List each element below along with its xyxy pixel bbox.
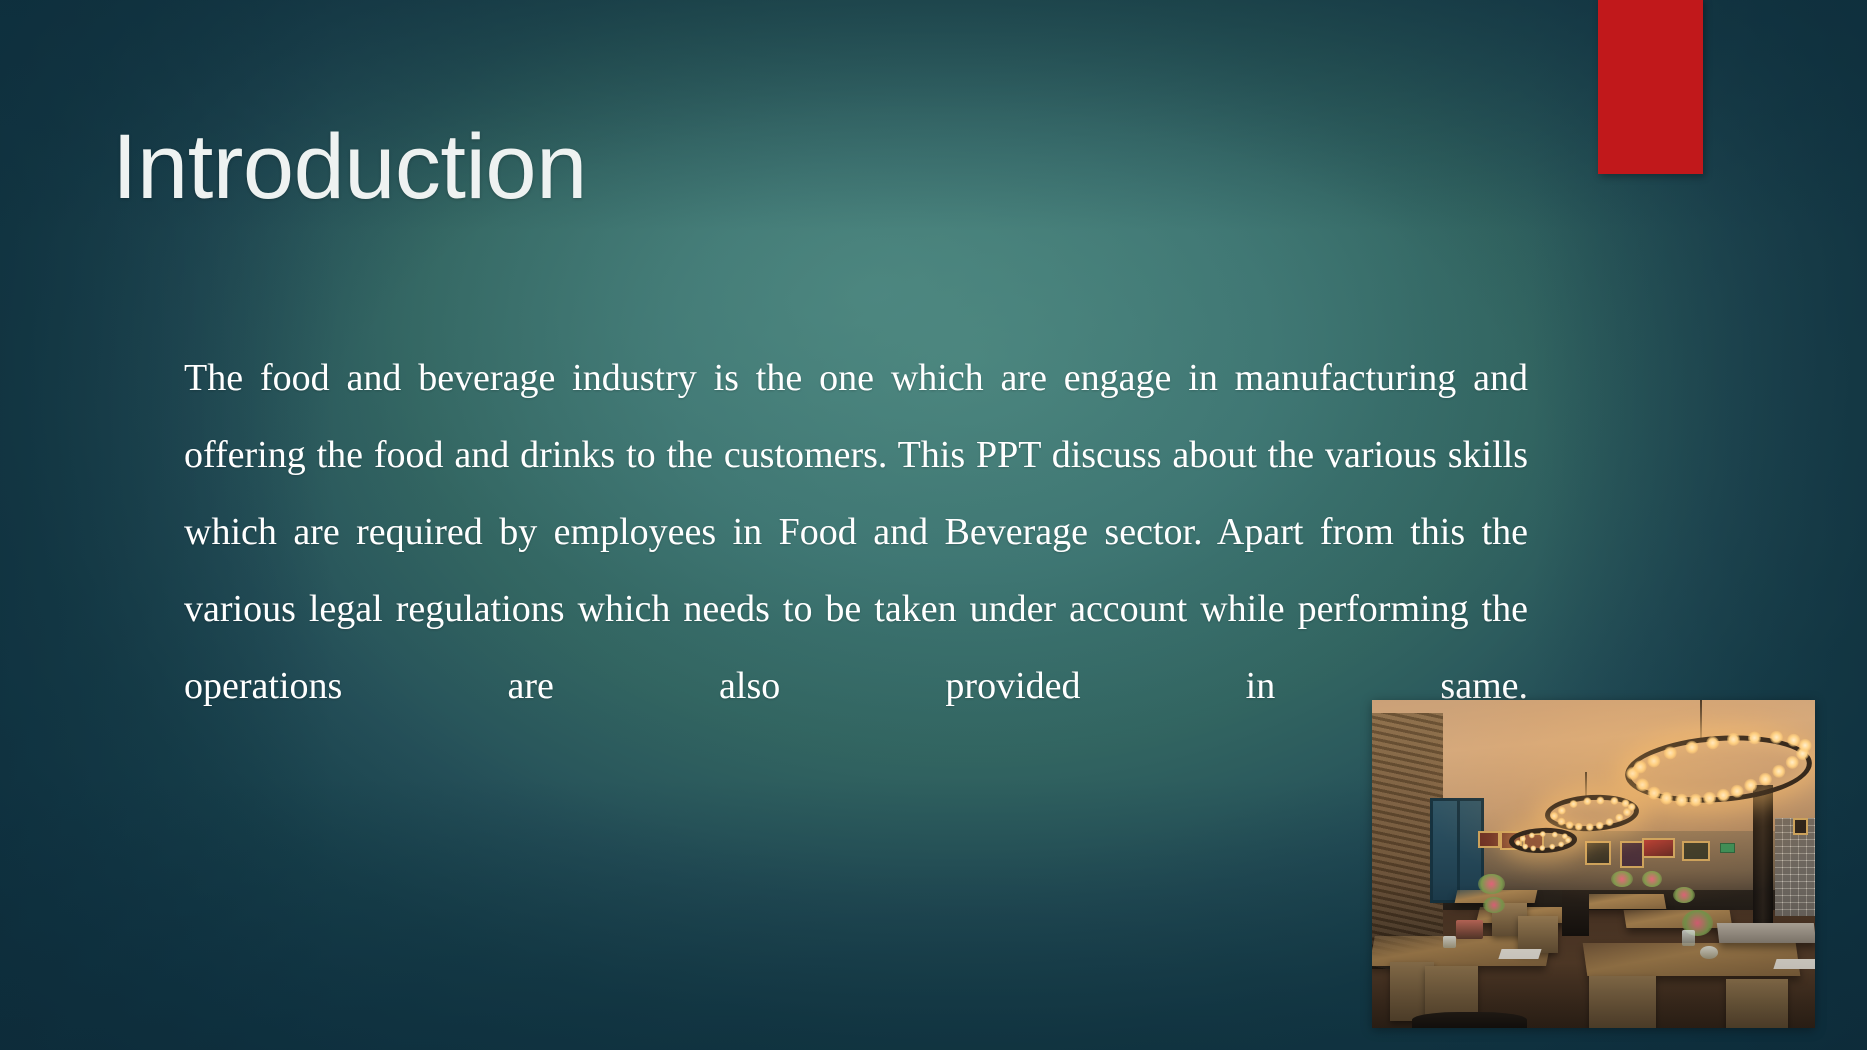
slide-body-block: The food and beverage industry is the on… (184, 340, 1528, 802)
restaurant-interior-photo (1372, 700, 1815, 1028)
slide-title: Introduction (112, 118, 587, 217)
red-accent-bar (1598, 0, 1703, 174)
slide-body-text: The food and beverage industry is the on… (184, 340, 1528, 802)
photo-warm-light-overlay (1372, 700, 1815, 1028)
photo-scene (1372, 700, 1815, 1028)
presentation-slide: Introduction The food and beverage indus… (0, 0, 1867, 1050)
